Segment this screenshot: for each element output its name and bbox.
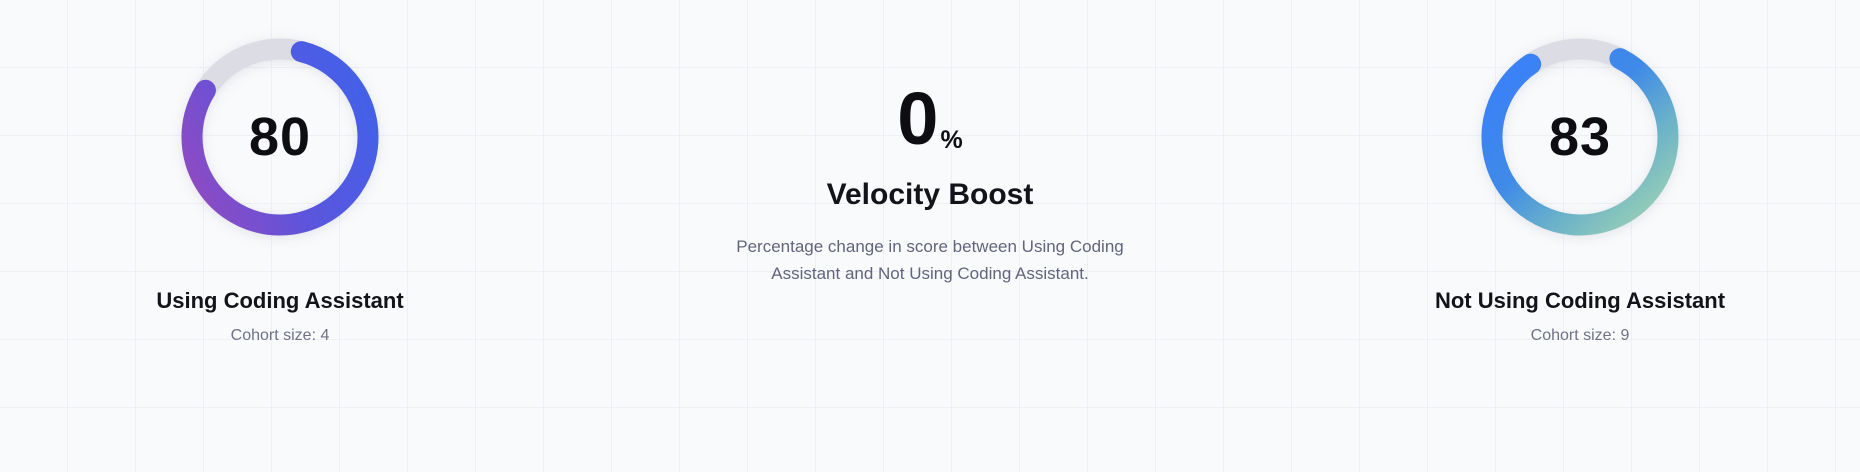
- left-cohort-name: Using Coding Assistant: [156, 288, 403, 314]
- left-gauge: 80: [173, 30, 387, 244]
- right-cohort-size: Cohort size: 9: [1531, 327, 1630, 345]
- left-cohort-gauge-card: 80 Using Coding Assistant Cohort size: 4: [30, 0, 530, 345]
- delta-value: 0: [897, 84, 937, 154]
- velocity-boost-description: Percentage change in score between Using…: [704, 234, 1156, 287]
- right-cohort-gauge-card: 83 Not Using Coding Assistant Cohort siz…: [1330, 0, 1830, 345]
- left-cohort-size: Cohort size: 4: [231, 327, 330, 345]
- right-gauge: 83: [1473, 30, 1687, 244]
- delta-unit: %: [940, 126, 962, 155]
- right-cohort-name: Not Using Coding Assistant: [1435, 288, 1725, 314]
- right-gauge-score: 83: [1473, 30, 1687, 244]
- left-gauge-score: 80: [173, 30, 387, 244]
- velocity-boost-summary: 0 % Velocity Boost Percentage change in …: [630, 0, 1230, 287]
- delta-row: 0 %: [897, 84, 962, 154]
- velocity-boost-comparison-panel: 80 Using Coding Assistant Cohort size: 4…: [0, 0, 1860, 472]
- velocity-boost-title: Velocity Boost: [827, 178, 1034, 212]
